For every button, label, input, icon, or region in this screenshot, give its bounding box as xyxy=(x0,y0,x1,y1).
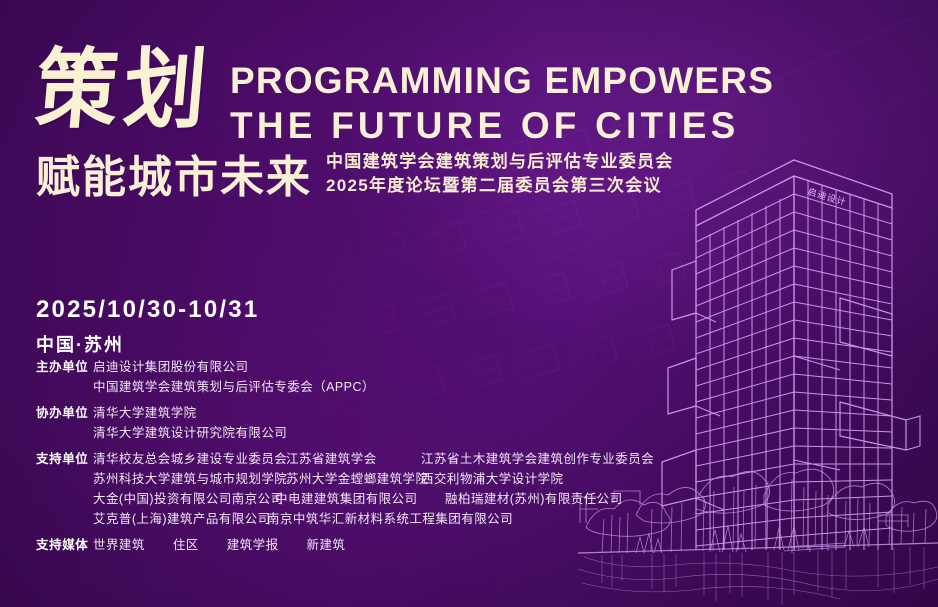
event-datetime-block: 2025/10/30-10/31 中国·苏州 xyxy=(36,296,259,357)
credit-line: 清华校友总会城乡建设专业委员会 江苏省建筑学会 江苏省土木建筑学会建筑创作专业委… xyxy=(93,449,696,469)
credit-body-coorganizer: 清华大学建筑学院 清华大学建筑设计研究院有限公司 xyxy=(93,403,696,443)
credit-entry: 清华大学建筑学院 xyxy=(93,403,197,423)
credit-entry: 清华大学建筑设计研究院有限公司 xyxy=(93,423,287,443)
poster-canvas: 启迪设计 xyxy=(0,0,938,607)
event-date: 2025/10/30-10/31 xyxy=(36,296,259,324)
headline-top-row: 策划 PROGRAMMING EMPOWERS THE FUTURE OF CI… xyxy=(36,52,736,144)
credit-line: 大金(中国)投资有限公司南京公司 中电建建筑集团有限公司 融柏瑞建材(苏州)有限… xyxy=(93,489,696,509)
credit-label-media: 支持媒体 xyxy=(36,535,93,555)
headline-bottom-row: 赋能城市未来 中国建筑学会建筑策划与后评估专业委员会 2025年度论坛暨第二届委… xyxy=(36,150,736,201)
credit-entry: 融柏瑞建材(苏州)有限责任公司 xyxy=(445,489,623,509)
credit-label-coorganizer: 协办单位 xyxy=(36,403,93,423)
credits-block: 主办单位 启迪设计集团股份有限公司 中国建筑学会建筑策划与后评估专委会（APPC… xyxy=(36,357,696,561)
credit-body-support: 清华校友总会城乡建设专业委员会 江苏省建筑学会 江苏省土木建筑学会建筑创作专业委… xyxy=(93,449,696,529)
credit-entry: 苏州科技大学建筑与城市规划学院 xyxy=(93,469,286,489)
credit-entry: 新建筑 xyxy=(307,535,346,555)
english-title-block: PROGRAMMING EMPOWERS THE FUTURE OF CITIE… xyxy=(230,52,774,144)
chinese-subtitle-line1: 中国建筑学会建筑策划与后评估专业委员会 xyxy=(326,150,674,174)
event-location: 中国·苏州 xyxy=(36,331,259,357)
english-title-line1: PROGRAMMING EMPOWERS xyxy=(230,62,774,99)
calligraphy-title: 策划 xyxy=(32,50,215,133)
credit-body-host: 启迪设计集团股份有限公司 中国建筑学会建筑策划与后评估专委会（APPC） xyxy=(93,357,696,397)
credit-group-media: 支持媒体 世界建筑 住区 建筑学报 新建筑 xyxy=(36,535,696,555)
credit-label-support: 支持单位 xyxy=(36,449,93,469)
chinese-main-title: 赋能城市未来 xyxy=(36,155,312,201)
credit-group-support: 支持单位 清华校友总会城乡建设专业委员会 江苏省建筑学会 江苏省土木建筑学会建筑… xyxy=(36,449,696,529)
credit-group-host: 主办单位 启迪设计集团股份有限公司 中国建筑学会建筑策划与后评估专委会（APPC… xyxy=(36,357,696,397)
credit-entry: 中电建建筑集团有限公司 xyxy=(275,489,445,509)
credit-entry: 中国建筑学会建筑策划与后评估专委会（APPC） xyxy=(93,377,375,397)
chinese-subtitle-block: 中国建筑学会建筑策划与后评估专业委员会 2025年度论坛暨第二届委员会第三次会议 xyxy=(326,150,674,201)
credit-entry: 大金(中国)投资有限公司南京公司 xyxy=(93,489,275,509)
credit-line: 清华大学建筑设计研究院有限公司 xyxy=(93,423,696,443)
english-title-line2: THE FUTURE OF CITIES xyxy=(230,107,774,144)
credit-entry: 建筑学报 xyxy=(227,535,279,555)
credit-line: 中国建筑学会建筑策划与后评估专委会（APPC） xyxy=(93,377,696,397)
credit-line: 清华大学建筑学院 xyxy=(93,403,696,423)
credit-entry: 南京中筑华汇新材料系统工程集团有限公司 xyxy=(267,509,513,529)
credit-entry: 西交利物浦大学设计学院 xyxy=(421,469,563,489)
credit-entry: 世界建筑 xyxy=(93,535,145,555)
credit-entry: 启迪设计集团股份有限公司 xyxy=(93,357,248,377)
credit-line: 艾克普(上海)建筑产品有限公司 南京中筑华汇新材料系统工程集团有限公司 xyxy=(93,509,696,529)
credit-entry: 苏州大学金螳螂建筑学院 xyxy=(286,469,421,489)
credit-line: 启迪设计集团股份有限公司 xyxy=(93,357,696,377)
headline-block: 策划 PROGRAMMING EMPOWERS THE FUTURE OF CI… xyxy=(36,52,736,201)
credit-entry: 清华校友总会城乡建设专业委员会 xyxy=(93,449,286,469)
chinese-subtitle-line2: 2025年度论坛暨第二届委员会第三次会议 xyxy=(326,174,674,198)
credit-body-media: 世界建筑 住区 建筑学报 新建筑 xyxy=(93,535,696,555)
credit-line: 世界建筑 住区 建筑学报 新建筑 xyxy=(93,535,696,555)
credit-entry: 住区 xyxy=(173,535,199,555)
credit-line: 苏州科技大学建筑与城市规划学院 苏州大学金螳螂建筑学院 西交利物浦大学设计学院 xyxy=(93,469,696,489)
credit-entry: 江苏省建筑学会 xyxy=(286,449,421,469)
credit-group-coorganizer: 协办单位 清华大学建筑学院 清华大学建筑设计研究院有限公司 xyxy=(36,403,696,443)
credit-label-host: 主办单位 xyxy=(36,357,93,377)
credit-entry: 艾克普(上海)建筑产品有限公司 xyxy=(93,509,267,529)
credit-entry: 江苏省土木建筑学会建筑创作专业委员会 xyxy=(421,449,654,469)
